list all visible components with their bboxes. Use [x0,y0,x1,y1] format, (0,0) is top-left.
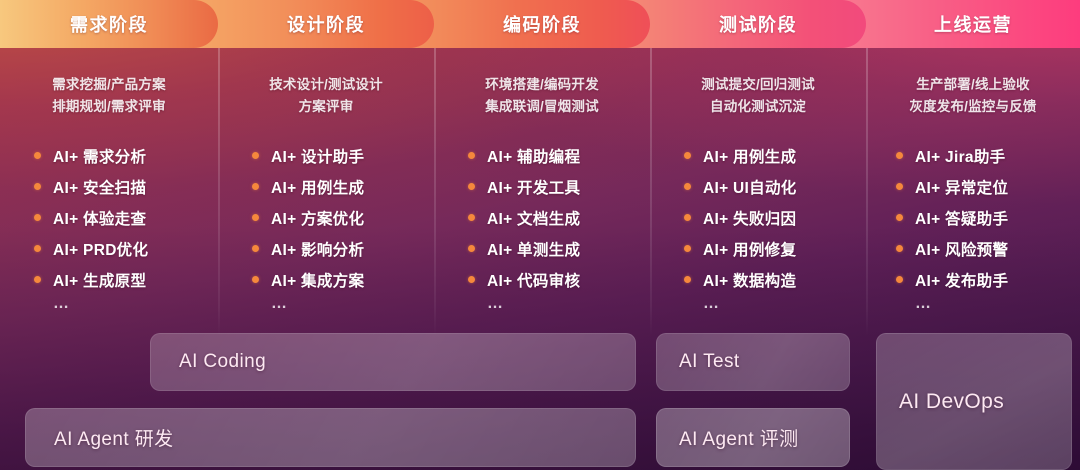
bullet-dot-icon [468,152,475,159]
list-item[interactable]: AI+ 影响分析 [252,233,364,264]
bullet-dot-icon [34,152,41,159]
list-item-label: AI+ 集成方案 [271,269,364,291]
diagram-canvas: 需求阶段 设计阶段 编码阶段 测试阶段 上线运营 需求挖掘/产品方案 排期规划/… [0,0,1080,470]
list-more-indicator: … [896,295,1008,319]
list-item[interactable]: AI+ Jira助手 [896,140,1008,171]
list-item[interactable]: AI+ 需求分析 [34,140,148,171]
phase-subtitle-line: 环境搭建/编码开发 [485,74,599,96]
phase-header-label: 上线运营 [934,11,1012,37]
phase-column-design: 技术设计/测试设计 方案评审 AI+ 设计助手 AI+ 用例生成 AI+ 方案优… [218,48,434,336]
phase-subtitle-line: 方案评审 [269,96,383,118]
bullet-dot-icon [896,152,903,159]
bullet-dot-icon [684,183,691,190]
list-item-label: AI+ 开发工具 [487,176,580,198]
capability-list: AI+ Jira助手 AI+ 异常定位 AI+ 答疑助手 AI+ 风险预警 AI… [866,140,1008,319]
list-item[interactable]: AI+ 用例生成 [684,140,797,171]
list-item[interactable]: AI+ UI自动化 [684,171,797,202]
capability-list: AI+ 辅助编程 AI+ 开发工具 AI+ 文档生成 AI+ 单测生成 AI+ … [434,140,580,319]
list-item[interactable]: AI+ 设计助手 [252,140,364,171]
list-item[interactable]: AI+ PRD优化 [34,233,148,264]
bullet-dot-icon [34,183,41,190]
list-item[interactable]: AI+ 用例生成 [252,171,364,202]
bullet-dot-icon [252,152,259,159]
list-item[interactable]: AI+ 异常定位 [896,171,1008,202]
phase-header-coding[interactable]: 编码阶段 [408,0,650,48]
list-item-label: AI+ 用例修复 [703,238,796,260]
bullet-dot-icon [684,214,691,221]
phase-subtitle-line: 测试提交/回归测试 [701,74,815,96]
list-item[interactable]: AI+ 答疑助手 [896,202,1008,233]
list-item[interactable]: AI+ 辅助编程 [468,140,580,171]
list-item[interactable]: AI+ 用例修复 [684,233,797,264]
list-item-label: AI+ 方案优化 [271,207,364,229]
bullet-dot-icon [896,245,903,252]
list-more-indicator: … [252,295,364,319]
bullet-dot-icon [684,245,691,252]
phase-subtitle: 需求挖掘/产品方案 排期规划/需求评审 [52,74,166,118]
list-item-label: AI+ 影响分析 [271,238,364,260]
phase-column-testing: 测试提交/回归测试 自动化测试沉淀 AI+ 用例生成 AI+ UI自动化 AI+… [650,48,866,336]
bullet-dot-icon [252,214,259,221]
list-more-indicator: … [684,295,797,319]
phase-subtitle-line: 集成联调/冒烟测试 [485,96,599,118]
list-item-label: AI+ 失败归因 [703,207,796,229]
list-item[interactable]: AI+ 集成方案 [252,264,364,295]
list-more-indicator: … [468,295,580,319]
bullet-dot-icon [468,214,475,221]
capability-list: AI+ 用例生成 AI+ UI自动化 AI+ 失败归因 AI+ 用例修复 AI+… [650,140,797,319]
list-item-label: AI+ 体验走查 [53,207,146,229]
list-item-label: AI+ 数据构造 [703,269,796,291]
phase-header-label: 编码阶段 [503,11,581,37]
bullet-dot-icon [252,245,259,252]
phase-header-row: 需求阶段 设计阶段 编码阶段 测试阶段 上线运营 [0,0,1080,48]
list-item-label: AI+ 安全扫描 [53,176,146,198]
bullet-dot-icon [468,276,475,283]
phase-subtitle-line: 自动化测试沉淀 [701,96,815,118]
bar-ai-agent-dev[interactable]: AI Agent 研发 [25,408,636,467]
capability-list: AI+ 设计助手 AI+ 用例生成 AI+ 方案优化 AI+ 影响分析 AI+ … [218,140,364,319]
list-item-label: AI+ UI自动化 [703,176,797,198]
list-item-label: AI+ 发布助手 [915,269,1008,291]
phase-header-design[interactable]: 设计阶段 [192,0,434,48]
list-item[interactable]: AI+ 单测生成 [468,233,580,264]
phase-header-requirements[interactable]: 需求阶段 [0,0,218,48]
list-item-label: AI+ 文档生成 [487,207,580,229]
list-item[interactable]: AI+ 数据构造 [684,264,797,295]
list-item-label: AI+ 答疑助手 [915,207,1008,229]
bullet-dot-icon [34,245,41,252]
phase-header-label: 需求阶段 [70,11,148,37]
phase-column-coding: 环境搭建/编码开发 集成联调/冒烟测试 AI+ 辅助编程 AI+ 开发工具 AI… [434,48,650,336]
phase-header-testing[interactable]: 测试阶段 [624,0,866,48]
bullet-dot-icon [896,183,903,190]
phase-header-label: 设计阶段 [287,11,365,37]
bar-ai-devops[interactable]: AI DevOps [876,333,1072,470]
bar-ai-test[interactable]: AI Test [656,333,850,391]
phase-column-operations: 生产部署/线上验收 灰度发布/监控与反馈 AI+ Jira助手 AI+ 异常定位… [866,48,1080,336]
phase-subtitle-line: 技术设计/测试设计 [269,74,383,96]
bullet-dot-icon [896,214,903,221]
bullet-dot-icon [252,183,259,190]
list-item[interactable]: AI+ 失败归因 [684,202,797,233]
list-item-label: AI+ 单测生成 [487,238,580,260]
phase-subtitle: 环境搭建/编码开发 集成联调/冒烟测试 [485,74,599,118]
list-item[interactable]: AI+ 风险预警 [896,233,1008,264]
phase-columns: 需求挖掘/产品方案 排期规划/需求评审 AI+ 需求分析 AI+ 安全扫描 AI… [0,48,1080,336]
phase-subtitle: 测试提交/回归测试 自动化测试沉淀 [701,74,815,118]
list-item-label: AI+ 需求分析 [53,145,146,167]
list-item[interactable]: AI+ 安全扫描 [34,171,148,202]
phase-subtitle-line: 生产部署/线上验收 [909,74,1036,96]
list-item[interactable]: AI+ 开发工具 [468,171,580,202]
bullet-dot-icon [896,276,903,283]
list-item[interactable]: AI+ 代码审核 [468,264,580,295]
phase-header-label: 测试阶段 [719,11,797,37]
list-item-label: AI+ 设计助手 [271,145,364,167]
list-item-label: AI+ 用例生成 [271,176,364,198]
list-item-label: AI+ 生成原型 [53,269,146,291]
phase-subtitle-line: 排期规划/需求评审 [52,96,166,118]
list-item-label: AI+ 异常定位 [915,176,1008,198]
list-item[interactable]: AI+ 发布助手 [896,264,1008,295]
phase-subtitle-line: 灰度发布/监控与反馈 [909,96,1036,118]
bar-ai-agent-eval[interactable]: AI Agent 评测 [656,408,850,467]
list-item-label: AI+ PRD优化 [53,238,148,260]
list-item[interactable]: AI+ 方案优化 [252,202,364,233]
bullet-dot-icon [684,152,691,159]
bar-ai-coding[interactable]: AI Coding [150,333,636,391]
phase-header-operations[interactable]: 上线运营 [840,0,1080,48]
bullet-dot-icon [34,214,41,221]
list-more-indicator: … [34,295,148,319]
phase-subtitle-line: 需求挖掘/产品方案 [52,74,166,96]
list-item[interactable]: AI+ 文档生成 [468,202,580,233]
list-item-label: AI+ 辅助编程 [487,145,580,167]
list-item-label: AI+ 用例生成 [703,145,796,167]
bullet-dot-icon [252,276,259,283]
bullet-dot-icon [468,183,475,190]
bullet-dot-icon [684,276,691,283]
list-item[interactable]: AI+ 生成原型 [34,264,148,295]
bullet-dot-icon [34,276,41,283]
capability-list: AI+ 需求分析 AI+ 安全扫描 AI+ 体验走查 AI+ PRD优化 AI+… [0,140,148,319]
bullet-dot-icon [468,245,475,252]
list-item[interactable]: AI+ 体验走查 [34,202,148,233]
phase-subtitle: 生产部署/线上验收 灰度发布/监控与反馈 [909,74,1036,118]
list-item-label: AI+ 代码审核 [487,269,580,291]
phase-subtitle: 技术设计/测试设计 方案评审 [269,74,383,118]
phase-column-requirements: 需求挖掘/产品方案 排期规划/需求评审 AI+ 需求分析 AI+ 安全扫描 AI… [0,48,218,336]
list-item-label: AI+ Jira助手 [915,145,1005,167]
list-item-label: AI+ 风险预警 [915,238,1008,260]
